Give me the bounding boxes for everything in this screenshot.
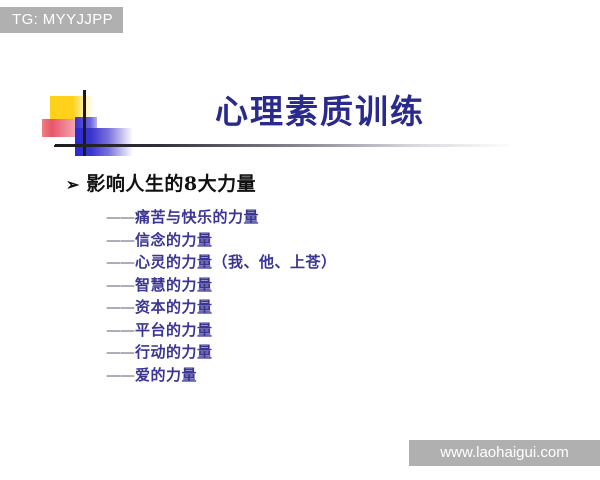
list-item-label: 智慧的力量	[135, 274, 213, 297]
list-item-label: 行动的力量	[135, 341, 213, 364]
list-item-label: 心灵的力量（我、他、上苍）	[135, 251, 337, 274]
list-dash-prefix: ——	[106, 206, 134, 229]
list-dash-prefix: ——	[106, 251, 134, 274]
list-item-label: 信念的力量	[135, 229, 213, 252]
list-item: —— 平台的力量	[106, 319, 526, 342]
section-heading-label: 影响人生的8大力量	[86, 169, 256, 196]
list-dash-prefix: ——	[106, 229, 134, 252]
list-item: —— 痛苦与快乐的力量	[106, 206, 526, 229]
arrow-bullet-icon: ➢	[66, 175, 79, 194]
slide-title: 心理素质训练	[190, 85, 450, 133]
title-underline-rule	[55, 144, 515, 147]
list-dash-prefix: ——	[106, 341, 134, 364]
section-heading: ➢ 影响人生的8大力量	[66, 169, 256, 196]
site-watermark: www.laohaigui.com	[409, 440, 600, 466]
presentation-slide: TG: MYYJJPP 心理素质训练 ➢ 影响人生的8大力量 —— 痛苦与快乐的…	[0, 0, 600, 480]
list-item-label: 资本的力量	[135, 296, 213, 319]
power-list: —— 痛苦与快乐的力量 —— 信念的力量 —— 心灵的力量（我、他、上苍） ——…	[106, 206, 526, 386]
tg-tag-badge: TG: MYYJJPP	[0, 7, 123, 33]
list-item: —— 行动的力量	[106, 341, 526, 364]
list-item-label: 痛苦与快乐的力量	[135, 206, 259, 229]
list-item: —— 信念的力量	[106, 229, 526, 252]
list-item: —— 心灵的力量（我、他、上苍）	[106, 251, 526, 274]
list-item-label: 爱的力量	[135, 364, 197, 387]
list-item-label: 平台的力量	[135, 319, 213, 342]
list-dash-prefix: ——	[106, 364, 134, 387]
list-dash-prefix: ——	[106, 319, 134, 342]
decorative-logo	[40, 88, 140, 160]
list-item: —— 爱的力量	[106, 364, 526, 387]
list-item: —— 智慧的力量	[106, 274, 526, 297]
list-dash-prefix: ——	[106, 296, 134, 319]
list-item: —— 资本的力量	[106, 296, 526, 319]
list-dash-prefix: ——	[106, 274, 134, 297]
